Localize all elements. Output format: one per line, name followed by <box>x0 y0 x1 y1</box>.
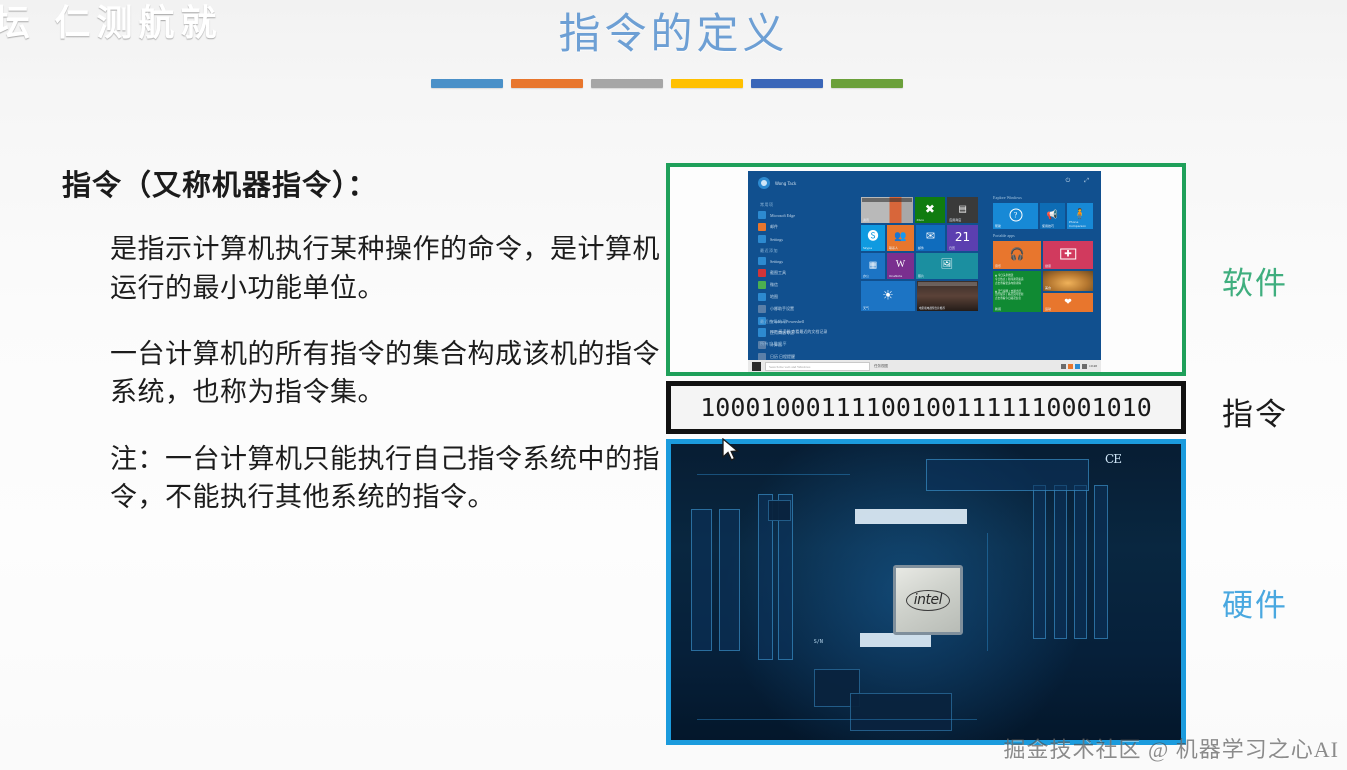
content-text-column: 指令（又称机器指令）： 是指示计算机执行某种操作的命令，是计算机运行的最小功能单… <box>62 168 672 544</box>
start-button-icon[interactable] <box>752 362 761 371</box>
tile-label: 电影和电视预告片推荐 <box>919 306 945 310</box>
task-view-button[interactable]: 任务视图 <box>874 364 888 369</box>
help-tile[interactable]: ? 帮助 <box>993 203 1038 229</box>
news-line-4: 出行提示 | 路况实时更新 <box>995 293 1023 296</box>
right-panel-head-portable: Portable apps <box>993 233 1093 238</box>
windows-user-row: Wong Tack <box>758 177 796 189</box>
list-item[interactable]: Microsoft Edge <box>758 211 846 219</box>
content-paragraph-3: 注：一台计算机只能执行自己指令系统中的指令，不能执行其他系统的指令。 <box>110 440 672 517</box>
watermark-bottom-right: 掘金技术社区 @ 机器学习之心AI <box>1004 732 1339 764</box>
tile-label: 美食 <box>1045 286 1051 290</box>
tile-label: 资讯 <box>863 218 869 222</box>
mail-icon: ✉ <box>926 231 935 242</box>
tile-label: 办公 <box>863 274 869 278</box>
ram-slot <box>1033 485 1046 639</box>
weather-tile[interactable]: ☀ 天气 <box>861 281 915 311</box>
ram-slot <box>1074 485 1087 639</box>
tile-label: 联系人 <box>889 246 898 250</box>
tile-label: 帮助 <box>995 224 1001 228</box>
tile-row: ? 帮助 📢 使用技巧 🧍 Phone Companion <box>993 203 1093 229</box>
tile-label: Skype <box>863 246 872 250</box>
onenote-tile[interactable]: W OneNote <box>887 253 914 279</box>
pci-slot <box>719 509 739 651</box>
list-item-label: 地图 <box>770 294 778 300</box>
fitness-tile[interactable]: ❤ 运动 <box>1043 293 1093 312</box>
tile-label: 天气 <box>863 306 869 310</box>
tile-row: 🎧 音乐 ✚ 健康 <box>993 241 1093 269</box>
office-tile[interactable]: ▦ 办公 <box>861 253 885 279</box>
ce-mark: CE <box>1105 452 1121 466</box>
food-tile[interactable]: 美食 <box>1043 271 1093 291</box>
connector-block <box>850 693 952 731</box>
windows-start-menu-screenshot: Wong Tack ⏻ ⤢ 常用项 Microsoft Edge 邮件 Sett… <box>748 171 1101 372</box>
tile-row: 🅢 Skype 👥 联系人 ✉ 邮件 21 日历 <box>861 225 978 251</box>
list-item[interactable]: Settings <box>758 257 846 265</box>
tile-label: 照片 <box>918 274 924 278</box>
serial-sticker <box>860 633 931 646</box>
windows-user-name: Wong Tack <box>775 181 796 186</box>
intel-logo: intel <box>906 590 950 611</box>
tray-icon[interactable] <box>1068 364 1073 369</box>
right-panel-head-explore: Explore Windows <box>993 195 1093 200</box>
mail-tile[interactable]: ✉ 邮件 <box>916 225 945 251</box>
ram-slot <box>1094 485 1107 639</box>
label-software: 软件 <box>1222 258 1288 303</box>
content-heading: 指令（又称机器指令）： <box>62 168 672 204</box>
tray-icon[interactable] <box>1061 364 1066 369</box>
windows-taskbar: Search the web and Windows 任务视图 10:48 <box>748 360 1101 372</box>
windows-right-panel: Explore Windows ? 帮助 📢 使用技巧 🧍 Phone Comp… <box>993 195 1093 314</box>
slide-title: 指令的定义 <box>0 10 1347 60</box>
app-icon <box>758 223 766 231</box>
news-line-0: ▲ 今日头条推送 <box>995 274 1013 277</box>
app-icon <box>758 235 766 243</box>
accent-bar-blue <box>431 79 503 88</box>
tile-row: ▦ 办公 W OneNote 🖼 照片 <box>861 253 978 279</box>
avatar <box>758 177 770 189</box>
tile-label: 邮件 <box>918 246 924 250</box>
taskbar-search-input[interactable]: Search the web and Windows <box>765 362 870 371</box>
music-tile[interactable]: 🎧 音乐 <box>993 241 1041 269</box>
weather-sun-icon: ☀ <box>882 288 894 301</box>
people-tile[interactable]: 👥 联系人 <box>887 225 914 251</box>
windows-all-apps-label[interactable]: 所有应用程序 <box>760 341 888 347</box>
news-line-2: 点击查看更多内容详情 <box>995 282 1021 285</box>
list-item[interactable]: 邮件 <box>758 223 846 231</box>
windows-top-icons: ⏻ ⤢ <box>1065 178 1089 185</box>
tips-tile[interactable]: 📢 使用技巧 <box>1040 203 1065 229</box>
ram-slot <box>1054 485 1067 639</box>
tray-icon[interactable] <box>1082 364 1087 369</box>
windows-group-title-0: 常用项 <box>760 202 846 208</box>
app-icon <box>758 211 766 219</box>
content-paragraph-2: 一台计算机的所有指令的集合构成该机的指令系统，也称为指令集。 <box>110 335 672 412</box>
tray-icon[interactable] <box>1075 364 1080 369</box>
accent-bar-row <box>431 79 903 88</box>
photos-icon: 🖼 <box>941 260 954 270</box>
expand-icon[interactable]: ⤢ <box>1084 178 1089 185</box>
power-icon[interactable]: ⏻ <box>1065 178 1070 185</box>
list-item-label: PDF 阅读器 查看最近的文档记录 <box>770 329 827 335</box>
list-item-label: Settings <box>770 259 783 264</box>
news-line-1: 今日热点 | 新闻资讯速递 <box>995 278 1023 281</box>
app-icon <box>758 257 766 265</box>
phone-companion-tile[interactable]: 🧍 Phone Companion <box>1067 203 1093 229</box>
system-tray[interactable]: 10:48 <box>1061 364 1097 369</box>
store-icon: ▤ <box>958 204 967 213</box>
windows-tile-grid: 资讯 ✖ Xbox ▤ 应用商店 🅢 Skype <box>861 197 978 313</box>
windows-group-title-1: 最近添加 <box>760 248 846 254</box>
health-plus-icon: ✚ <box>1060 248 1076 259</box>
windows-recent-title: 最近使用的项 <box>760 319 888 325</box>
tile-label: 日历 <box>949 246 955 250</box>
list-item[interactable]: 地图 <box>758 293 846 301</box>
phone-companion-icon: 🧍 <box>1074 210 1086 220</box>
heart-icon: ❤ <box>1064 297 1072 306</box>
software-image-frame: Wong Tack ⏻ ⤢ 常用项 Microsoft Edge 邮件 Sett… <box>666 163 1186 376</box>
tile-label: 新闻 <box>995 307 1001 311</box>
serial-number-label: S/N <box>814 639 823 645</box>
megaphone-icon: 📢 <box>1047 210 1058 219</box>
app-icon <box>758 269 766 277</box>
list-item[interactable]: PDF 阅读器 查看最近的文档记录 <box>758 328 888 336</box>
tile-label: 使用技巧 <box>1042 224 1054 228</box>
label-hardware: 硬件 <box>1222 580 1288 625</box>
label-sticker <box>855 509 967 524</box>
news-green-tile[interactable]: ▲ 今日头条推送 今日热点 | 新闻资讯速递 点击查看更多内容详情 ▲ 天气提醒… <box>993 271 1041 312</box>
list-item[interactable]: Settings <box>758 235 846 243</box>
tile-label: Xbox <box>917 218 924 222</box>
calendar-day-number: 21 <box>955 231 970 243</box>
skype-icon: 🅢 <box>868 231 879 242</box>
app-icon <box>758 281 766 289</box>
help-question-icon: ? <box>1009 208 1022 221</box>
office-icon: ▦ <box>869 260 878 269</box>
list-item-label: 微信 <box>770 282 778 288</box>
hardware-image-frame: CE S/N intel <box>666 439 1186 745</box>
pcb-trace <box>697 719 978 720</box>
calendar-tile[interactable]: 21 日历 <box>947 225 978 251</box>
windows-recent-section: 最近使用的项 PDF 阅读器 查看最近的文档记录 所有应用程序 <box>758 314 888 350</box>
news-tile[interactable]: 资讯 <box>861 197 913 223</box>
tile-label: 音乐 <box>995 264 1001 268</box>
mouse-cursor-icon <box>722 438 740 462</box>
skype-tile[interactable]: 🅢 Skype <box>861 225 885 251</box>
app-icon <box>758 328 766 336</box>
pcb-trace <box>697 474 850 475</box>
taskbar-clock: 10:48 <box>1089 364 1097 368</box>
list-item[interactable]: 截图工具 <box>758 269 846 277</box>
pcb-trace <box>987 533 988 651</box>
binary-instruction-text: 100010001111001001111110001010 <box>700 393 1152 422</box>
health-tile[interactable]: ✚ 健康 <box>1043 241 1093 269</box>
list-item-label: 截图工具 <box>770 270 786 276</box>
app-icon <box>758 305 766 313</box>
movies-tile[interactable]: 电影和电视预告片推荐 <box>917 281 978 311</box>
tile-label: 健康 <box>1045 264 1051 268</box>
xbox-icon: ✖ <box>925 203 935 215</box>
content-paragraph-1: 是指示计算机执行某种操作的命令，是计算机运行的最小功能单位。 <box>110 230 672 307</box>
bios-chip <box>768 500 791 521</box>
headphones-icon: 🎧 <box>1010 248 1025 260</box>
tile-row: ☀ 天气 电影和电视预告片推荐 <box>861 281 978 311</box>
tile-label: 运动 <box>1045 307 1051 311</box>
motherboard-photo: CE S/N intel <box>671 444 1181 740</box>
people-icon: 👥 <box>894 232 906 242</box>
store-tile[interactable]: ▤ 应用商店 <box>947 197 978 223</box>
list-item[interactable]: 小娜助手设置 <box>758 305 846 313</box>
accent-bar-gray <box>591 79 663 88</box>
list-item-label: 邮件 <box>770 224 778 230</box>
cpu-socket: intel <box>893 565 963 635</box>
xbox-tile[interactable]: ✖ Xbox <box>915 197 946 223</box>
app-icon <box>758 293 766 301</box>
news-line-5: 点击查看今日路况信息 <box>995 297 1021 300</box>
accent-bar-orange <box>511 79 583 88</box>
tile-label: Phone Companion <box>1069 220 1093 228</box>
instruction-binary-frame: 100010001111001001111110001010 <box>666 381 1186 434</box>
list-item-label: Settings <box>770 237 783 242</box>
list-item-label: 小娜助手设置 <box>770 306 794 312</box>
label-instruction: 指令 <box>1222 389 1288 434</box>
io-shield <box>926 459 1089 492</box>
tile-row: 资讯 ✖ Xbox ▤ 应用商店 <box>861 197 978 223</box>
list-item-label: Microsoft Edge <box>770 213 795 218</box>
photos-tile[interactable]: 🖼 照片 <box>916 253 978 279</box>
pci-slot <box>691 509 711 651</box>
list-item[interactable]: 微信 <box>758 281 846 289</box>
tile-label: OneNote <box>889 274 902 278</box>
tile-label: 应用商店 <box>949 218 961 222</box>
onenote-icon: W <box>896 260 905 270</box>
accent-bar-navy <box>751 79 823 88</box>
tile-row: ▲ 今日头条推送 今日热点 | 新闻资讯速递 点击查看更多内容详情 ▲ 天气提醒… <box>993 271 1093 312</box>
diagram-column: Wong Tack ⏻ ⤢ 常用项 Microsoft Edge 邮件 Sett… <box>666 163 1186 745</box>
accent-bar-yellow <box>671 79 743 88</box>
accent-bar-green <box>831 79 903 88</box>
